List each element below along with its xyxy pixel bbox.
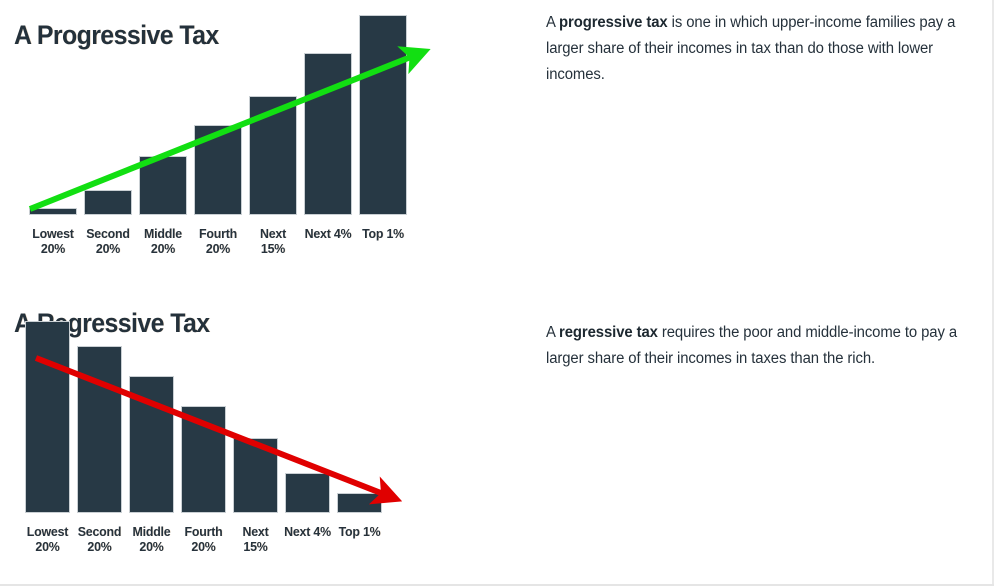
bar-regressive-lowest-20	[25, 321, 70, 513]
regressive-desc-lead: A	[546, 324, 559, 341]
bar-progressive-top-1	[359, 15, 407, 215]
bar-progressive-fourth-20	[194, 125, 242, 215]
axis-label-regressive-0: Lowest 20%	[18, 524, 78, 554]
axis-label-regressive-6: Top 1%	[330, 524, 390, 539]
progressive-description: A progressive tax is one in which upper-…	[546, 10, 966, 88]
axis-label-progressive-0: Lowest 20%	[22, 226, 85, 256]
axis-label-regressive-1: Second 20%	[70, 524, 130, 554]
axis-label-progressive-3: Fourth 20%	[187, 226, 250, 256]
axis-label-regressive-4: Next 15%	[226, 524, 286, 554]
axis-label-progressive-2: Middle 20%	[132, 226, 195, 256]
regressive-description: A regressive tax requires the poor and m…	[546, 320, 966, 372]
bar-regressive-middle-20	[129, 376, 174, 513]
bar-regressive-fourth-20	[181, 406, 226, 513]
regressive-tax-panel: A Regressive Tax Lowest 20%Second 20%Mid…	[0, 293, 520, 586]
bar-regressive-top-1	[337, 493, 382, 513]
bar-progressive-second-20	[84, 190, 132, 215]
bar-progressive-lowest-20	[29, 208, 77, 215]
progressive-bar-chart	[0, 0, 520, 232]
axis-label-progressive-5: Next 4%	[297, 226, 360, 241]
axis-label-progressive-1: Second 20%	[77, 226, 140, 256]
bar-progressive-middle-20	[139, 156, 187, 215]
bar-progressive-next-15	[249, 96, 297, 215]
progressive-tax-panel: A Progressive Tax Lowest 20%Second 20%Mi…	[0, 0, 520, 293]
regressive-desc-term: regressive tax	[559, 324, 658, 341]
axis-label-progressive-4: Next 15%	[242, 226, 305, 256]
axis-label-progressive-6: Top 1%	[352, 226, 415, 241]
regressive-bar-chart	[0, 293, 520, 525]
axis-label-regressive-5: Next 4%	[278, 524, 338, 539]
axis-label-regressive-3: Fourth 20%	[174, 524, 234, 554]
axis-label-regressive-2: Middle 20%	[122, 524, 182, 554]
progressive-desc-lead: A	[546, 14, 559, 31]
infographic-page: A Progressive Tax Lowest 20%Second 20%Mi…	[0, 0, 994, 586]
progressive-desc-term: progressive tax	[559, 14, 668, 31]
bar-regressive-next-4	[285, 473, 330, 513]
bar-regressive-second-20	[77, 346, 122, 513]
bar-progressive-next-4	[304, 53, 352, 215]
bar-regressive-next-15	[233, 438, 278, 513]
